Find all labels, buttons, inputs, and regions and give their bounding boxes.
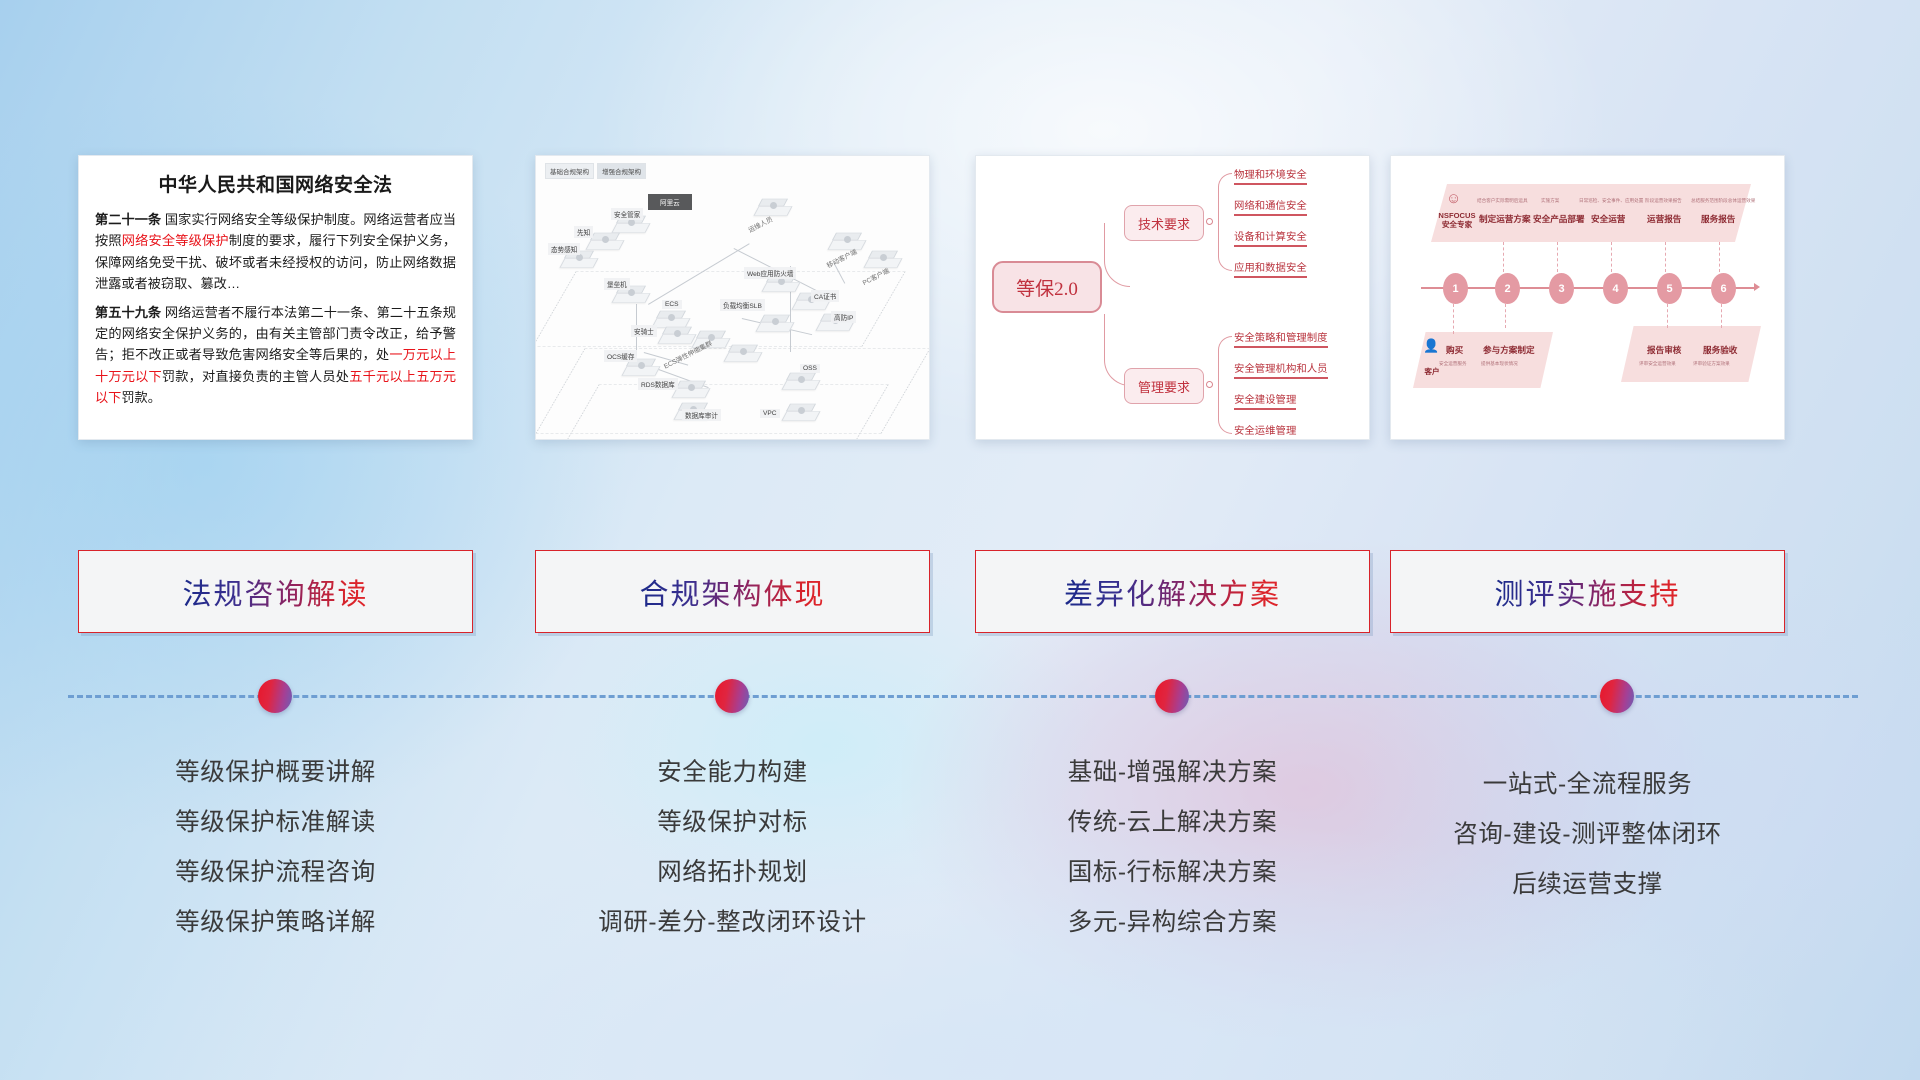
timeline-step-sub-3: 实施方案 — [1541, 198, 1559, 204]
mindmap-bracket-tech — [1218, 173, 1232, 271]
customer-role-label: 客户 — [1417, 366, 1447, 377]
law-run-2-2: 罚款，对直接负责的主管人员处 — [162, 369, 349, 384]
arch-node-rds — [674, 378, 708, 400]
media-card-architecture[interactable]: 基础合规架构 增强合规架构 阿里云 安全管家 先知 态势感 — [535, 155, 930, 440]
bullet-item: 多元-异构综合方案 — [975, 898, 1370, 948]
bullet-item: 网络拓扑规划 — [535, 848, 930, 898]
slide-stage: 中华人民共和国网络安全法 第二十一条 国家实行网络安全等级保护制度。网络运营者应… — [0, 0, 1920, 1080]
bullet-item: 等级保护对标 — [535, 798, 930, 848]
mindmap-leaf-tech-1: 网络和通信安全 — [1234, 197, 1307, 216]
timeline-band-customer-right — [1621, 326, 1761, 382]
arch-label-situational-awareness: 态势感知 — [548, 243, 580, 255]
arch-node-ecs-pool-b — [726, 342, 760, 364]
expert-person-icon: ☺ — [1446, 190, 1461, 207]
timeline-stem-6-down — [1721, 304, 1722, 328]
arch-label-anqishi: 安骑士 — [631, 325, 657, 337]
law-article-label-2: 第五十九条 — [95, 305, 161, 320]
arch-label-vpc: VPC — [760, 409, 780, 418]
bullet-item: 等级保护策略详解 — [78, 898, 473, 948]
law-document: 中华人民共和国网络安全法 第二十一条 国家实行网络安全等级保护制度。网络运营者应… — [79, 156, 472, 425]
arch-label-ca-cert: CA证书 — [811, 290, 839, 302]
customer-step-sub-3: 评审验证方案效果 — [1693, 361, 1730, 367]
law-paragraph-1: 第二十一条 国家实行网络安全等级保护制度。网络运营者应当按照网络安全等级保护制度… — [95, 209, 456, 295]
bullet-item: 一站式-全流程服务 — [1390, 760, 1785, 810]
heading-label-4: 测评实施支持 — [1494, 571, 1680, 613]
bullet-item: 等级保护标准解读 — [78, 798, 473, 848]
timeline-step-label-4: 安全运营 — [1591, 213, 1625, 225]
bullet-item: 咨询-建设-测评整体闭环 — [1390, 810, 1785, 860]
bullet-column-4: 一站式-全流程服务 咨询-建设-测评整体闭环 后续运营支撑 — [1390, 760, 1785, 910]
law-run-1-1: 网络安全等级保护 — [122, 233, 229, 248]
timeline-dashed-line — [68, 695, 1858, 698]
arch-label-waf: Web应用防火墙 — [744, 267, 796, 279]
arch-node-oss — [784, 370, 818, 392]
law-article-label-1: 第二十一条 — [95, 212, 161, 227]
bullet-item: 调研-差分-整改闭环设计 — [535, 898, 930, 948]
heading-label-3: 差异化解决方案 — [1064, 571, 1281, 613]
law-title: 中华人民共和国网络安全法 — [95, 170, 456, 197]
law-run-2-4: 罚款。 — [121, 390, 161, 405]
timeline-stem-4 — [1611, 242, 1612, 272]
timeline-step-label-5: 运营报告 — [1647, 213, 1681, 225]
timeline-step-label-6: 服务报告 — [1701, 213, 1735, 225]
mindmap-leaf-tech-2: 设备和计算安全 — [1234, 228, 1307, 247]
mindmap: 等保2.0 技术要求 物理和环境安全 网络和通信安全 设备和计算安全 应用和数据… — [976, 156, 1369, 439]
mindmap-leaf-tech-3: 应用和数据安全 — [1234, 259, 1307, 278]
bullet-column-2: 安全能力构建 等级保护对标 网络拓扑规划 调研-差分-整改闭环设计 — [535, 748, 930, 948]
expert-role-line1: NSFOCUS — [1438, 211, 1475, 220]
timeline-step-sub-6: 总结服务范围阶段总体运营效果 — [1691, 198, 1755, 204]
mindmap-leaf-mgmt-1: 安全管理机构和人员 — [1234, 360, 1328, 379]
customer-person-icon: 👤 — [1423, 338, 1439, 354]
heading-label-1: 法规咨询解读 — [182, 571, 368, 613]
bullet-column-3: 基础-增强解决方案 传统-云上解决方案 国标-行标解决方案 多元-异构综合方案 — [975, 748, 1370, 948]
customer-step-sub-0: 安全运营服务 — [1439, 361, 1467, 367]
heading-box-1[interactable]: 法规咨询解读 — [78, 550, 473, 633]
arch-label-bastion-host: 堡垒机 — [604, 278, 630, 290]
media-card-timeline[interactable]: ☺ NSFOCUS 安全专家 👤 客户 1 2 3 4 5 6 — [1390, 155, 1785, 440]
timeline-stem-1-down — [1453, 304, 1454, 334]
arch-label-xianzhi: 先知 — [574, 226, 593, 238]
mindmap-knob-mgmt — [1206, 381, 1213, 388]
arch-plane-lower — [561, 385, 889, 441]
customer-step-label-3: 服务验收 — [1703, 344, 1737, 356]
arch-label-db-audit: 数据库审计 — [682, 409, 721, 421]
bullet-item: 等级保护流程咨询 — [78, 848, 473, 898]
timeline-stem-5-down — [1667, 304, 1668, 328]
connector-dot-2[interactable] — [715, 679, 749, 713]
timeline-step-sub-4: 日常巡检、安全事件、应用处置 — [1579, 198, 1643, 204]
mindmap-leaf-tech-0: 物理和环境安全 — [1234, 166, 1307, 185]
connector-dot-3[interactable] — [1155, 679, 1189, 713]
arch-tab-basic[interactable]: 基础合规架构 — [545, 163, 594, 179]
customer-step-label-1: 参与方案制定 — [1483, 344, 1535, 356]
timeline-step-label-3: 安全产品部署 — [1533, 213, 1585, 225]
arch-node-vpc — [784, 401, 818, 423]
arch-label-aliyun: 阿里云 — [648, 194, 692, 210]
arch-node-slb — [758, 312, 792, 334]
mindmap-root: 等保2.0 — [992, 261, 1102, 313]
mindmap-leaf-mgmt-2: 安全建设管理 — [1234, 391, 1296, 410]
arch-tab-enhanced[interactable]: 增强合规架构 — [597, 163, 646, 179]
timeline-stem-3 — [1557, 242, 1558, 272]
timeline-dot-3[interactable]: 3 — [1549, 273, 1574, 304]
timeline-dot-2[interactable]: 2 — [1495, 273, 1520, 304]
timeline-stem-2 — [1503, 242, 1504, 272]
timeline-stem-5 — [1665, 242, 1666, 272]
timeline-stem-6 — [1719, 242, 1720, 272]
customer-step-sub-2: 评审安全运营效果 — [1639, 361, 1676, 367]
law-paragraph-2: 第五十九条 网络运营者不履行本法第二十一条、第二十五条规定的网络安全保护义务的，… — [95, 302, 456, 409]
heading-box-3[interactable]: 差异化解决方案 — [975, 550, 1370, 633]
service-timeline: ☺ NSFOCUS 安全专家 👤 客户 1 2 3 4 5 6 — [1391, 156, 1784, 439]
mindmap-branch-mgmt: 管理要求 — [1124, 368, 1204, 404]
bullet-column-1: 等级保护概要讲解 等级保护标准解读 等级保护流程咨询 等级保护策略详解 — [78, 748, 473, 948]
expert-role-line2: 安全专家 — [1442, 220, 1472, 229]
expert-role-label: NSFOCUS 安全专家 — [1431, 211, 1483, 230]
customer-step-sub-1: 提供基本现状情况 — [1481, 361, 1518, 367]
media-card-mindmap[interactable]: 等保2.0 技术要求 物理和环境安全 网络和通信安全 设备和计算安全 应用和数据… — [975, 155, 1370, 440]
arch-label-security-butler: 安全管家 — [611, 208, 643, 220]
bullet-item: 国标-行标解决方案 — [975, 848, 1370, 898]
arch-label-ocs-cache: OCS缓存 — [604, 350, 637, 362]
timeline-step-sub-5: 阶段运营效果报告 — [1645, 198, 1682, 204]
arch-label-rds: RDS数据库 — [638, 378, 678, 390]
customer-step-label-0: 购买 — [1446, 344, 1463, 356]
timeline-axis — [1421, 287, 1757, 289]
connector-dot-1[interactable] — [258, 679, 292, 713]
heading-box-2[interactable]: 合规架构体现 — [535, 550, 930, 633]
arch-node-anqishi — [660, 324, 694, 346]
timeline-step-label-2: 制定运营方案 — [1479, 213, 1531, 225]
mindmap-branch-tech: 技术要求 — [1124, 205, 1204, 241]
timeline-step-sub-2: 结合客户实际需明后运具 — [1477, 198, 1528, 204]
bullet-item: 等级保护概要讲解 — [78, 748, 473, 798]
customer-step-label-2: 报告审核 — [1647, 344, 1681, 356]
arch-label-slb: 负载均衡SLB — [720, 299, 765, 311]
timeline-dot-4[interactable]: 4 — [1603, 273, 1628, 304]
cloud-architecture-diagram: 基础合规架构 增强合规架构 阿里云 安全管家 先知 态势感 — [536, 156, 929, 439]
mindmap-leaf-mgmt-3: 安全运维管理 — [1234, 422, 1296, 440]
timeline-stem-2-down — [1505, 304, 1506, 328]
bullet-item: 安全能力构建 — [535, 748, 930, 798]
timeline-dot-5[interactable]: 5 — [1657, 273, 1682, 304]
arch-label-ecs: ECS — [662, 300, 682, 309]
timeline-dot-6[interactable]: 6 — [1711, 273, 1736, 304]
arch-label-anti-ddos: 高防IP — [831, 311, 856, 323]
mindmap-bracket-mgmt — [1218, 336, 1232, 434]
bullet-item: 传统-云上解决方案 — [975, 798, 1370, 848]
bullet-item: 基础-增强解决方案 — [975, 748, 1370, 798]
mindmap-leaf-mgmt-0: 安全策略和管理制度 — [1234, 329, 1328, 348]
timeline-dot-1[interactable]: 1 — [1443, 273, 1468, 304]
timeline-arrow-icon — [1754, 283, 1760, 291]
architecture-tabs[interactable]: 基础合规架构 增强合规架构 — [545, 163, 646, 179]
connector-dot-4[interactable] — [1600, 679, 1634, 713]
bullet-item: 后续运营支撑 — [1390, 860, 1785, 910]
heading-label-2: 合规架构体现 — [639, 571, 825, 613]
arch-label-oss: OSS — [800, 364, 820, 373]
heading-box-4[interactable]: 测评实施支持 — [1390, 550, 1785, 633]
media-card-law[interactable]: 中华人民共和国网络安全法 第二十一条 国家实行网络安全等级保护制度。网络运营者应… — [78, 155, 473, 440]
mindmap-knob-tech — [1206, 218, 1213, 225]
